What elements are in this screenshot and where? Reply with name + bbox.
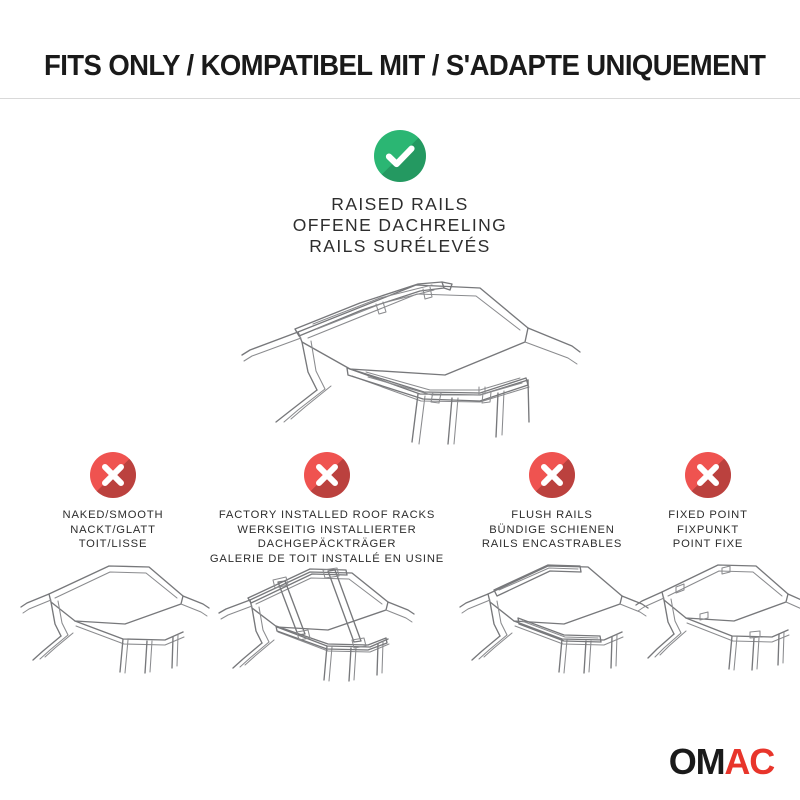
caption-line-de-1: WERKSEITIG INSTALLIERTER <box>202 523 452 538</box>
title-divider <box>0 98 800 99</box>
caption-line-de-2: DACHGEPÄCKTRÄGER <box>202 537 452 552</box>
x-circle-icon <box>304 452 350 498</box>
incompatible-item-fixed-point: FIXED POINT FIXPUNKT POINT FIXE <box>630 452 786 552</box>
incompatible-caption: FIXED POINT FIXPUNKT POINT FIXE <box>630 508 786 552</box>
caption-line-en: FACTORY INSTALLED ROOF RACKS <box>202 508 452 523</box>
caption-line-fr: RAILS SURÉLEVÉS <box>0 236 800 257</box>
incompatible-item-naked-smooth: NAKED/SMOOTH NACKT/GLATT TOIT/LISSE <box>13 452 213 552</box>
caption-line-de: FIXPUNKT <box>630 523 786 538</box>
incompatible-caption: NAKED/SMOOTH NACKT/GLATT TOIT/LISSE <box>13 508 213 552</box>
car-roof-with-crossbars-illustration <box>202 552 452 692</box>
caption-line-en: FIXED POINT <box>630 508 786 523</box>
car-roof-bare-illustration <box>13 552 213 687</box>
car-roof-with-raised-rails-illustration <box>180 272 620 462</box>
incompatible-caption: FLUSH RAILS BÜNDIGE SCHIENEN RAILS ENCAS… <box>452 508 652 552</box>
omac-logo: OMAC <box>669 744 774 780</box>
page-title: FITS ONLY / KOMPATIBEL MIT / S'ADAPTE UN… <box>44 50 765 83</box>
caption-line-de: BÜNDIGE SCHIENEN <box>452 523 652 538</box>
caption-line-en: NAKED/SMOOTH <box>13 508 213 523</box>
x-circle-icon <box>529 452 575 498</box>
caption-line-en: RAISED RAILS <box>0 194 800 215</box>
check-circle-icon <box>374 130 426 182</box>
header: FITS ONLY / KOMPATIBEL MIT / S'ADAPTE UN… <box>0 0 800 100</box>
car-roof-with-flush-rails-illustration <box>452 552 652 687</box>
x-circle-icon <box>685 452 731 498</box>
compatible-section: RAISED RAILS OFFENE DACHRELING RAILS SUR… <box>0 130 800 257</box>
incompatible-item-factory-roof-racks: FACTORY INSTALLED ROOF RACKS WERKSEITIG … <box>202 452 452 566</box>
caption-line-fr: RAILS ENCASTRABLES <box>452 537 652 552</box>
x-circle-icon <box>90 452 136 498</box>
caption-line-de: NACKT/GLATT <box>13 523 213 538</box>
car-roof-with-fixed-points-illustration <box>630 548 800 686</box>
logo-part-dark: OM <box>669 741 725 782</box>
logo-part-accent: AC <box>724 741 774 782</box>
incompatible-item-flush-rails: FLUSH RAILS BÜNDIGE SCHIENEN RAILS ENCAS… <box>452 452 652 552</box>
compatible-caption: RAISED RAILS OFFENE DACHRELING RAILS SUR… <box>0 194 800 257</box>
caption-line-fr: TOIT/LISSE <box>13 537 213 552</box>
caption-line-de: OFFENE DACHRELING <box>0 215 800 236</box>
caption-line-en: FLUSH RAILS <box>452 508 652 523</box>
